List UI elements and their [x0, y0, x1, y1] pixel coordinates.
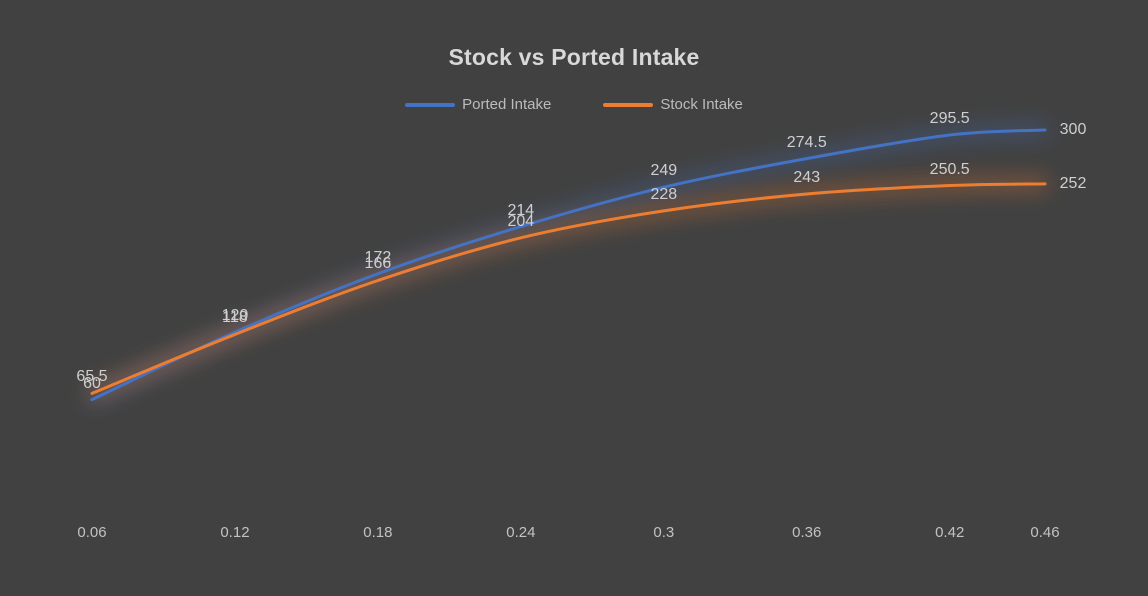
x-tick-label: 0.3 — [653, 524, 674, 541]
x-tick-label: 0.46 — [1030, 524, 1059, 541]
legend-swatch-stock-intake — [603, 103, 653, 107]
x-tick-label: 0.06 — [77, 524, 106, 541]
x-tick-label: 0.12 — [220, 524, 249, 541]
chart-legend: Ported Intake Stock Intake — [0, 96, 1148, 113]
plot-area — [0, 0, 1148, 596]
series-line-ported-intake[interactable] — [92, 130, 1045, 400]
x-tick-label: 0.18 — [363, 524, 392, 541]
data-label: 250.5 — [930, 161, 970, 179]
legend-swatch-ported-intake — [405, 103, 455, 107]
legend-item-ported-intake[interactable]: Ported Intake — [405, 96, 551, 113]
chart-title: Stock vs Ported Intake — [0, 44, 1148, 71]
legend-item-stock-intake[interactable]: Stock Intake — [603, 96, 743, 113]
series-glow-stock-intake — [92, 184, 1045, 394]
data-label: 204 — [507, 213, 534, 231]
data-label: 228 — [650, 186, 677, 204]
x-tick-label: 0.24 — [506, 524, 535, 541]
data-label: 252 — [1060, 175, 1087, 193]
legend-label-ported-intake: Ported Intake — [462, 96, 551, 113]
x-tick-label: 0.36 — [792, 524, 821, 541]
series-glow-ported-intake — [92, 130, 1045, 400]
legend-label-stock-intake: Stock Intake — [660, 96, 743, 113]
data-label: 300 — [1060, 121, 1087, 139]
data-label: 243 — [793, 169, 820, 187]
data-label: 274.5 — [787, 134, 827, 152]
x-tick-label: 0.42 — [935, 524, 964, 541]
data-label: 249 — [650, 162, 677, 180]
data-label: 295.5 — [930, 110, 970, 128]
chart-container: Stock vs Ported Intake Ported Intake Sto… — [0, 0, 1148, 596]
data-label: 118 — [222, 309, 248, 327]
series-line-stock-intake[interactable] — [92, 184, 1045, 394]
data-label: 65.5 — [76, 368, 107, 386]
data-label: 166 — [365, 255, 392, 273]
